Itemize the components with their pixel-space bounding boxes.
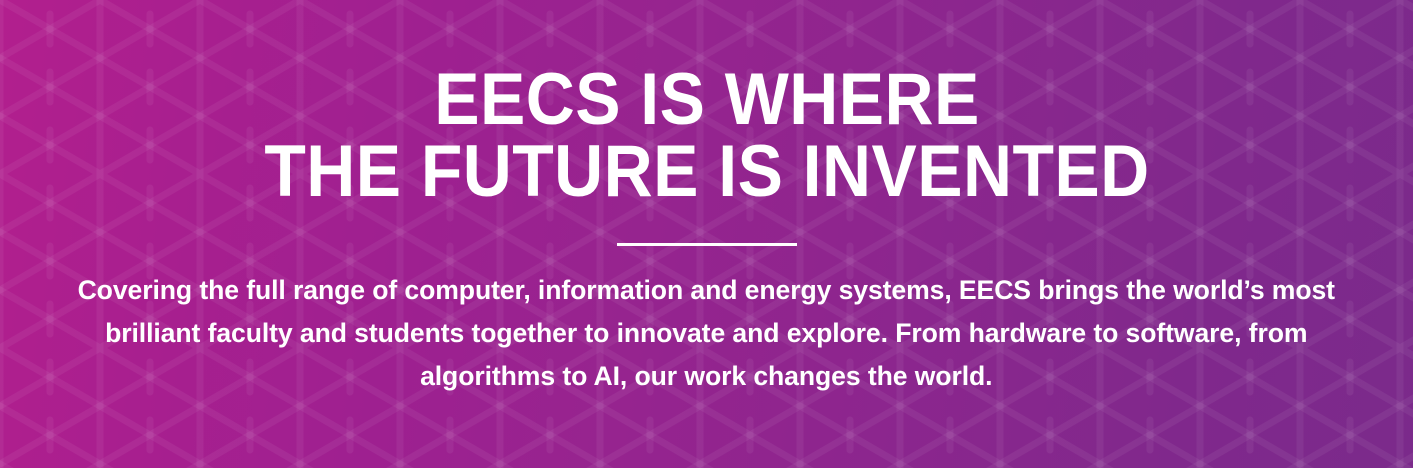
hero-description-line-1: Covering the full range of computer, inf… xyxy=(78,269,1335,312)
hero-banner: EECS IS WHERE THE FUTURE IS INVENTED Cov… xyxy=(0,0,1413,468)
hero-description: Covering the full range of computer, inf… xyxy=(78,269,1335,398)
page-title-line-1: EECS IS WHERE xyxy=(264,64,1149,136)
page-title-line-2: THE FUTURE IS INVENTED xyxy=(264,136,1149,208)
hero-content: EECS IS WHERE THE FUTURE IS INVENTED Cov… xyxy=(0,0,1413,468)
hero-description-line-2: brilliant faculty and students together … xyxy=(78,312,1335,355)
title-divider xyxy=(617,243,797,246)
hero-description-line-3: algorithms to AI, our work changes the w… xyxy=(78,355,1335,398)
page-title: EECS IS WHERE THE FUTURE IS INVENTED xyxy=(264,64,1149,207)
